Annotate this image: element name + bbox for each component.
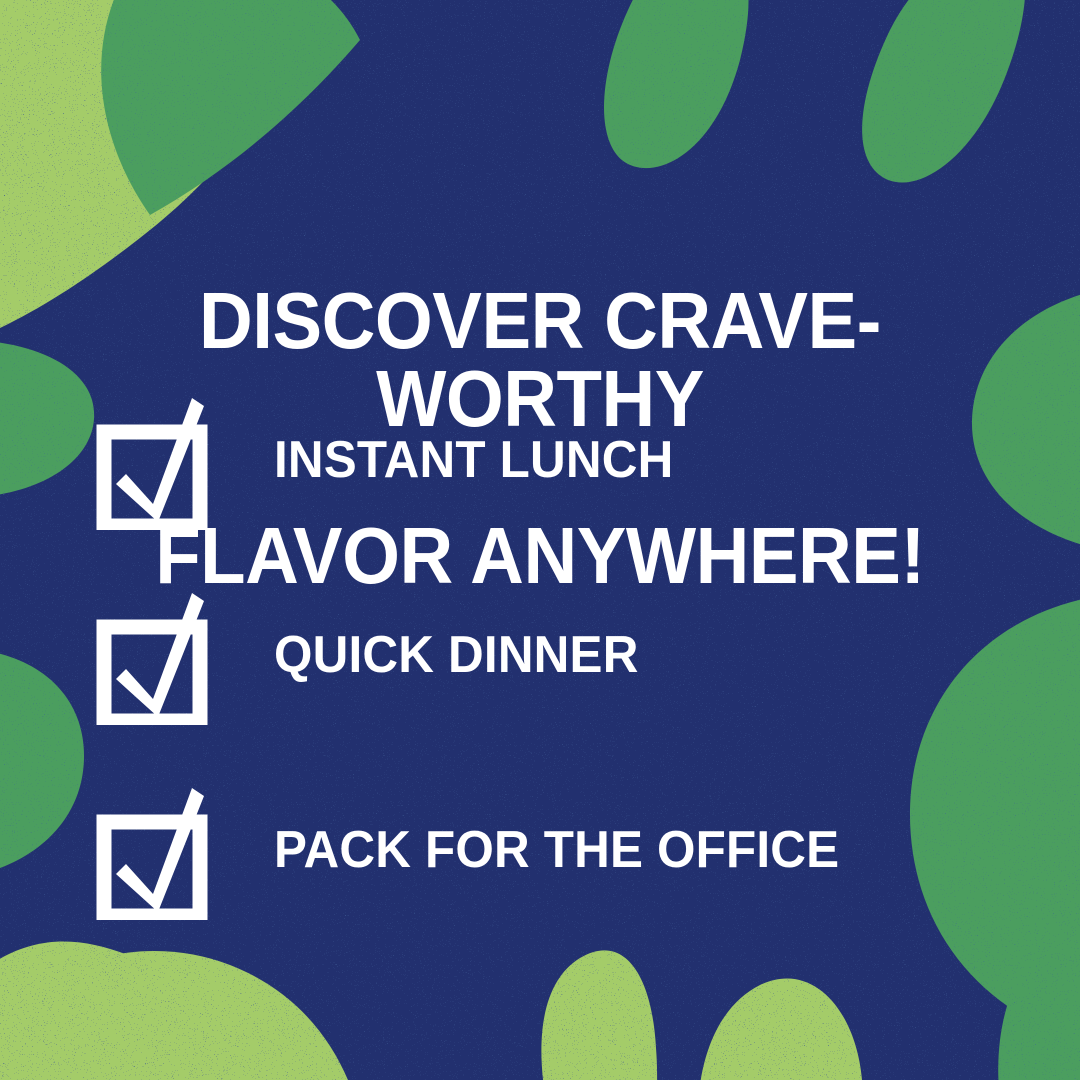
list-item-label: PACK FOR THE OFFICE — [274, 820, 839, 880]
promo-graphic: DISCOVER CRAVE-WORTHY FLAVOR ANYWHERE! I… — [0, 0, 1080, 1080]
list-item-label: QUICK DINNER — [274, 625, 639, 685]
list-item-label: INSTANT LUNCH — [274, 430, 673, 490]
list-item: PACK FOR THE OFFICE — [96, 782, 996, 977]
list-item: INSTANT LUNCH — [96, 392, 996, 587]
checkbox-checked-icon — [96, 392, 208, 530]
benefits-checklist: INSTANT LUNCH QUICK DINNER PACK FOR THE … — [96, 392, 996, 977]
list-item: QUICK DINNER — [96, 587, 996, 782]
checkbox-checked-icon — [96, 782, 208, 920]
checkbox-checked-icon — [96, 587, 208, 725]
